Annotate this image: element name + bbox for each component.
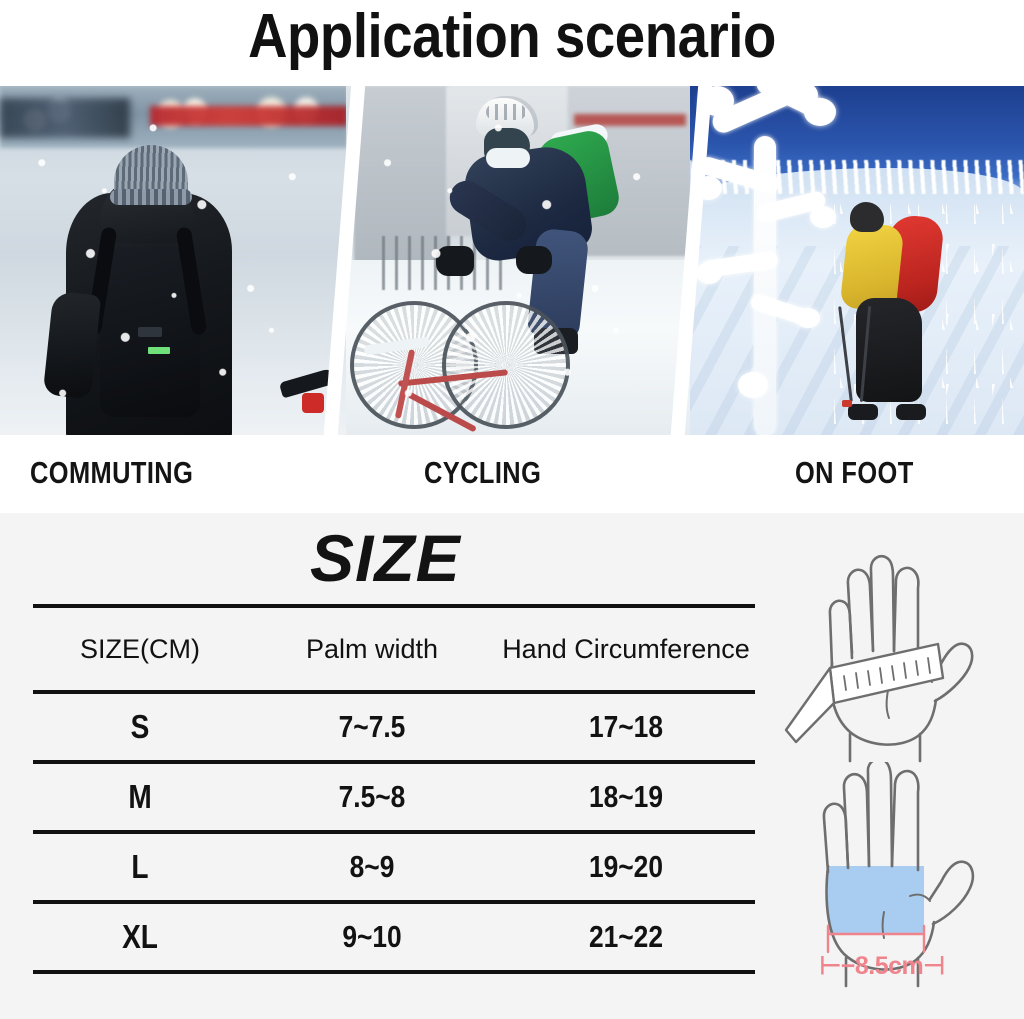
table-row: XL 9~10 21~22 (33, 904, 755, 974)
cyclist-scarf (486, 148, 530, 168)
hand-circumference-diagram (772, 518, 1022, 764)
cell-hand-circumference: 18~19 (516, 780, 735, 814)
commuter-beanie-brim (110, 189, 192, 205)
blurred-red-vehicle (150, 106, 348, 126)
caption-commuting: COMMUTING (30, 455, 193, 491)
size-title: SIZE (310, 519, 461, 597)
bicycle-rear-light (302, 393, 324, 413)
palm-width-measure-label: ⊢−8.5cm⊣ (804, 952, 960, 980)
scenario-photo-strip (0, 86, 1024, 435)
table-header-row: SIZE(CM) Palm width Hand Circumference (33, 604, 755, 694)
bicycle-rear-wheel (442, 301, 570, 429)
table-row: S 7~7.5 17~18 (33, 694, 755, 764)
cell-hand-circumference: 19~20 (516, 850, 735, 884)
onfoot-scene (690, 86, 1024, 435)
cell-hand-circumference: 21~22 (516, 920, 735, 954)
header-size: SIZE(CM) (33, 633, 247, 665)
frost-clump (696, 262, 722, 284)
scenario-photo-onfoot (690, 86, 1024, 435)
cell-size: L (49, 850, 231, 884)
size-table: SIZE(CM) Palm width Hand Circumference S… (33, 604, 755, 974)
measuring-tape (786, 644, 943, 742)
cycling-scene (346, 86, 692, 435)
frost-clump (810, 206, 836, 228)
table-row: M 7.5~8 18~19 (33, 764, 755, 834)
scenario-photo-commuting (0, 86, 348, 435)
caption-onfoot: ON FOOT (795, 455, 914, 491)
frost-clump (738, 372, 768, 398)
cell-size: S (49, 710, 231, 744)
hand-measurement-diagrams: ⊢−8.5cm⊣ (772, 518, 1022, 1010)
backpack-buckle (138, 327, 162, 337)
road-bicycle (346, 293, 566, 429)
backpack-green-tag (148, 347, 170, 354)
hiker-boot-right (896, 404, 926, 420)
banner: Application scenario (0, 0, 1024, 86)
table-row: L 8~9 19~20 (33, 834, 755, 904)
blurred-cars (0, 98, 130, 138)
cell-hand-circumference: 17~18 (516, 710, 735, 744)
cell-palm-width: 8~9 (266, 850, 479, 884)
cell-palm-width: 9~10 (266, 920, 479, 954)
cyclist-glove-right (516, 246, 552, 274)
cell-size: M (49, 780, 231, 814)
commuting-scene (0, 86, 348, 435)
cell-palm-width: 7.5~8 (266, 780, 479, 814)
palm-width-highlight (828, 866, 924, 934)
frost-covered-tree (692, 86, 860, 435)
hand-with-measuring-tape-icon (772, 518, 1022, 764)
scenario-caption-row: COMMUTING CYCLING ON FOOT (0, 435, 1024, 513)
header-hand-circumference: Hand Circumference (497, 633, 755, 665)
commuter-figure (52, 141, 246, 435)
header-palm-width: Palm width (247, 633, 497, 665)
cell-size: XL (49, 920, 231, 954)
page-title: Application scenario (61, 0, 962, 76)
cell-palm-width: 7~7.5 (266, 710, 479, 744)
hiker-figure (842, 202, 962, 420)
cyclist-glove-left (436, 246, 474, 276)
palm-width-diagram: ⊢−8.5cm⊣ (772, 762, 1022, 1008)
frost-clump (796, 308, 820, 328)
caption-cycling: CYCLING (424, 455, 541, 491)
scenario-photo-cycling (346, 86, 692, 435)
